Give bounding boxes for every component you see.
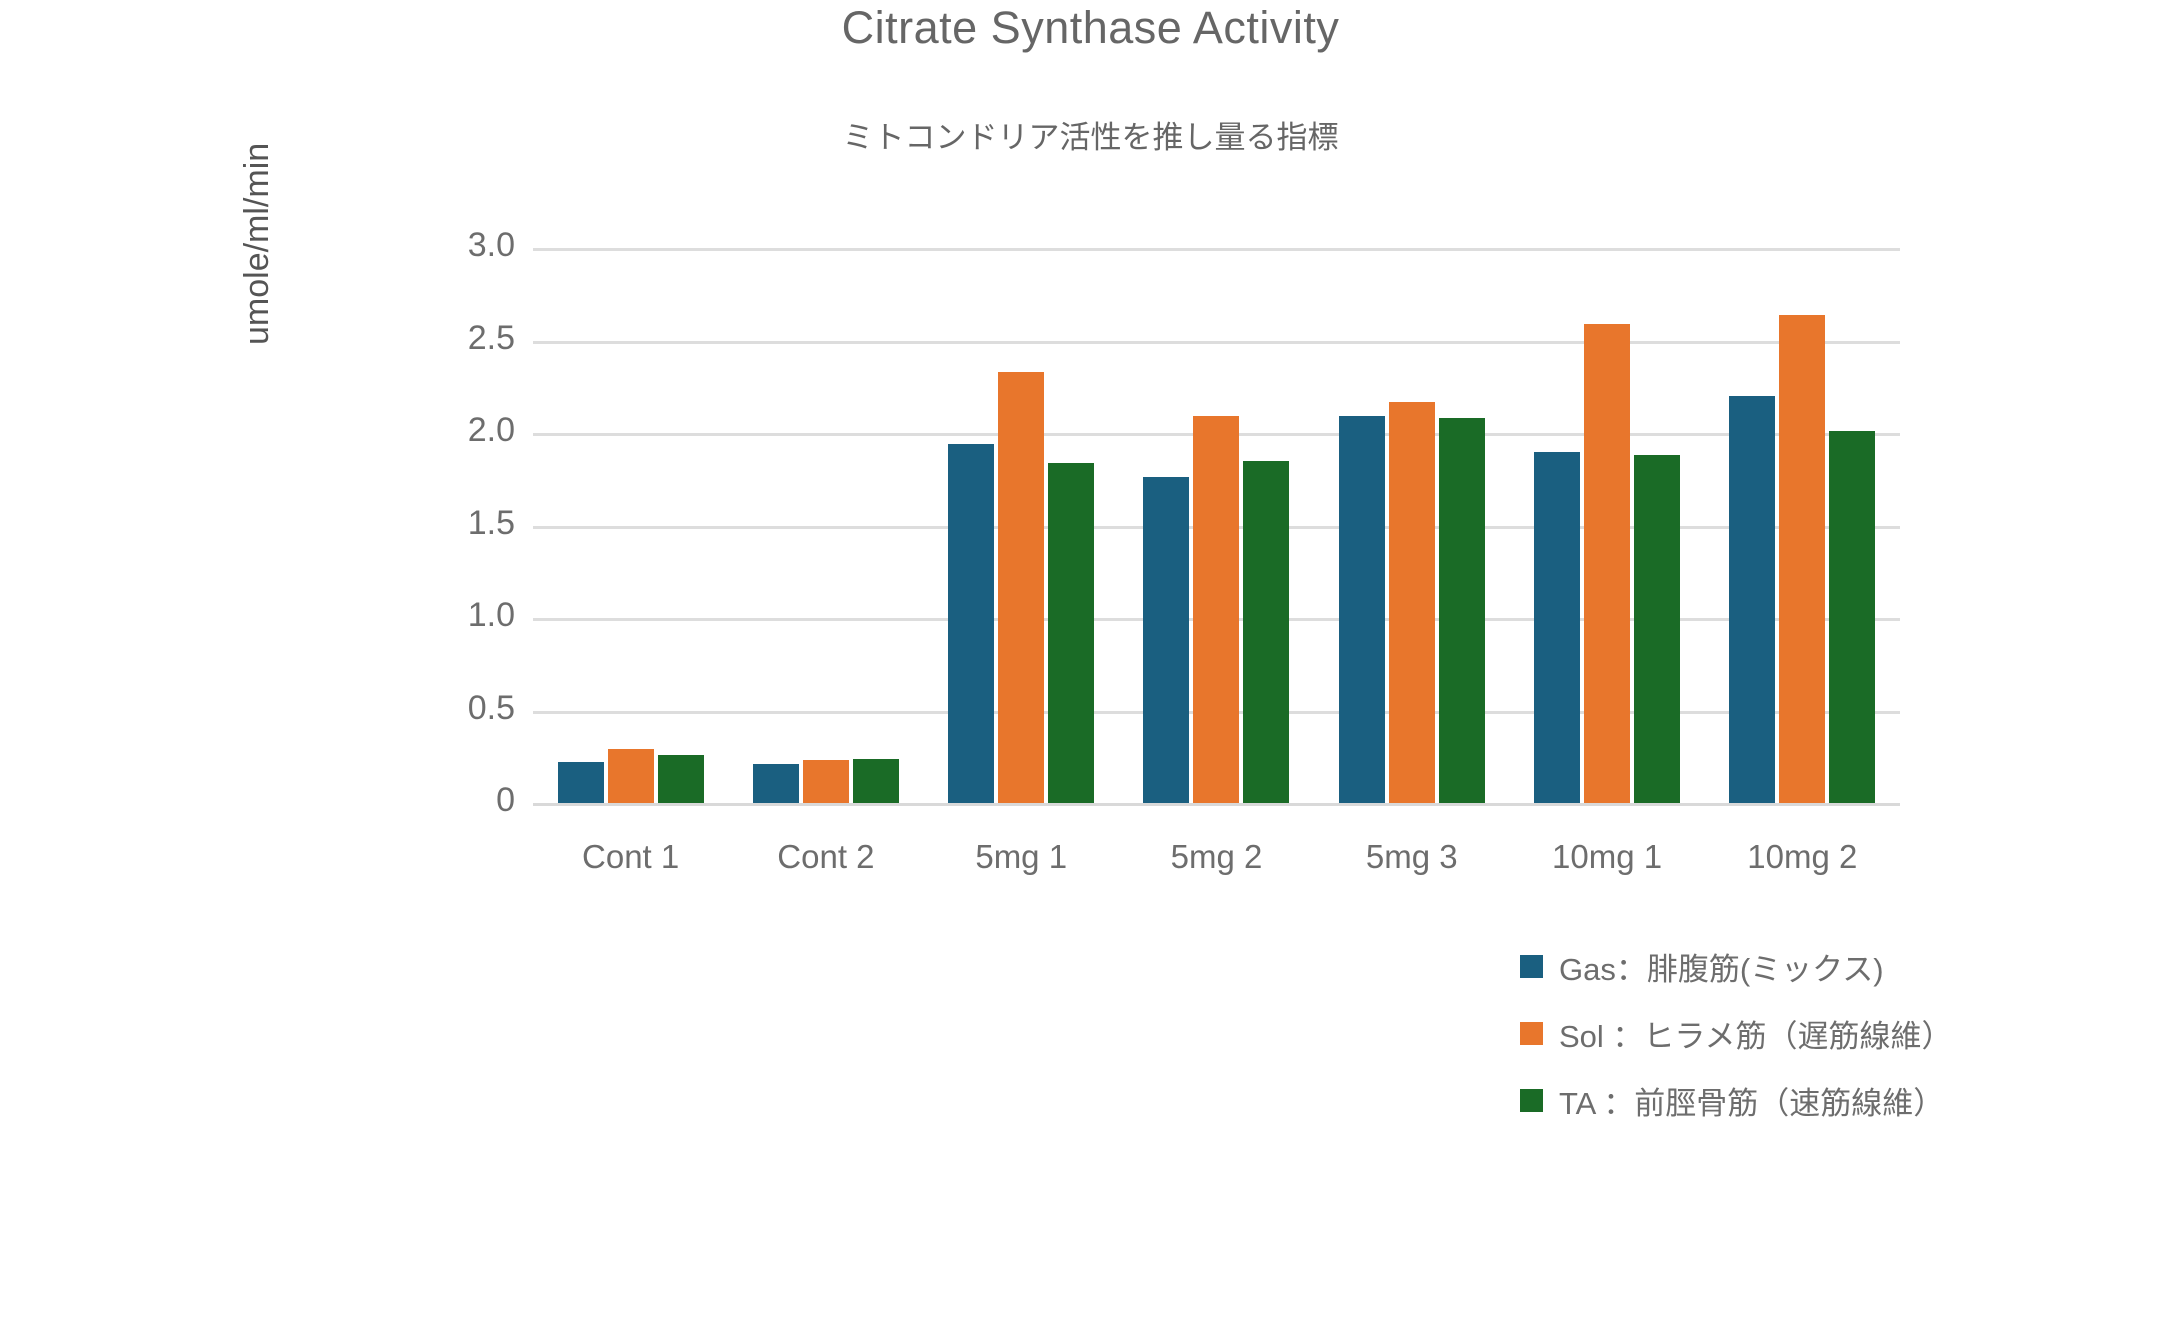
bar-group <box>1705 248 1900 803</box>
bar[interactable] <box>1439 418 1485 803</box>
legend-swatch-icon <box>1520 1022 1543 1045</box>
bar-group <box>1119 248 1314 803</box>
x-axis-tick-label: 10mg 1 <box>1509 838 1704 876</box>
x-axis-tick-label: 5mg 1 <box>924 838 1119 876</box>
bar-group <box>1509 248 1704 803</box>
x-axis-tick-label: 10mg 2 <box>1705 838 1900 876</box>
x-axis-tick-label: Cont 2 <box>728 838 923 876</box>
axis-baseline <box>533 803 1900 806</box>
x-axis-tick-label: 5mg 2 <box>1119 838 1314 876</box>
bar[interactable] <box>658 755 704 803</box>
bar[interactable] <box>1634 455 1680 803</box>
y-axis-tick-label: 2.5 <box>395 319 515 358</box>
chart-container: Citrate Synthase Activity ミトコンドリア活性を推し量る… <box>0 0 2181 1324</box>
bar[interactable] <box>1243 461 1289 803</box>
y-axis-tick-label: 0.5 <box>395 689 515 728</box>
y-axis-tick-label: 1.0 <box>395 596 515 635</box>
bar[interactable] <box>1829 431 1875 803</box>
legend-label: Sol ：ヒラメ筋（遅筋線維） <box>1559 1011 1953 1056</box>
bar[interactable] <box>608 749 654 803</box>
y-axis-title: umole/ml/min <box>238 143 277 345</box>
legend-item[interactable]: TA ：前脛骨筋（速筋線維） <box>1520 1078 1953 1123</box>
bar-groups <box>533 248 1900 803</box>
bar[interactable] <box>558 762 604 803</box>
bar[interactable] <box>948 444 994 803</box>
bar[interactable] <box>1048 463 1094 803</box>
bar[interactable] <box>1339 416 1385 803</box>
bar-group <box>1314 248 1509 803</box>
bar[interactable] <box>1729 396 1775 803</box>
legend-item[interactable]: Gas：腓腹筋(ミックス) <box>1520 944 1953 989</box>
y-axis-tick-label: 3.0 <box>395 226 515 265</box>
chart-title: Citrate Synthase Activity <box>0 2 2181 54</box>
bar-group <box>728 248 923 803</box>
y-axis-tick-label: 1.5 <box>395 504 515 543</box>
bar[interactable] <box>803 760 849 803</box>
bar[interactable] <box>1143 477 1189 803</box>
bar-group <box>924 248 1119 803</box>
bar[interactable] <box>998 372 1044 803</box>
legend-item[interactable]: Sol ：ヒラメ筋（遅筋線維） <box>1520 1011 1953 1056</box>
x-axis-tick-label: Cont 1 <box>533 838 728 876</box>
legend-label: TA ：前脛骨筋（速筋線維） <box>1559 1078 1944 1123</box>
x-axis-tick-label: 5mg 3 <box>1314 838 1509 876</box>
x-axis-tick-labels: Cont 1Cont 25mg 15mg 25mg 310mg 110mg 2 <box>533 838 1900 876</box>
y-axis-tick-label: 2.0 <box>395 411 515 450</box>
chart-subtitle: ミトコンドリア活性を推し量る指標 <box>0 112 2181 157</box>
y-axis-tick-label: 0 <box>395 781 515 820</box>
bar[interactable] <box>1584 324 1630 803</box>
bar[interactable] <box>1389 402 1435 803</box>
legend-label: Gas：腓腹筋(ミックス) <box>1559 944 1884 989</box>
bar[interactable] <box>1534 452 1580 804</box>
bar-group <box>533 248 728 803</box>
chart-legend: Gas：腓腹筋(ミックス)Sol ：ヒラメ筋（遅筋線維）TA ：前脛骨筋（速筋線… <box>1520 944 1953 1123</box>
legend-swatch-icon <box>1520 1089 1543 1112</box>
bar[interactable] <box>753 764 799 803</box>
bar[interactable] <box>1193 416 1239 803</box>
bar[interactable] <box>853 759 899 803</box>
legend-swatch-icon <box>1520 955 1543 978</box>
bar[interactable] <box>1779 315 1825 803</box>
